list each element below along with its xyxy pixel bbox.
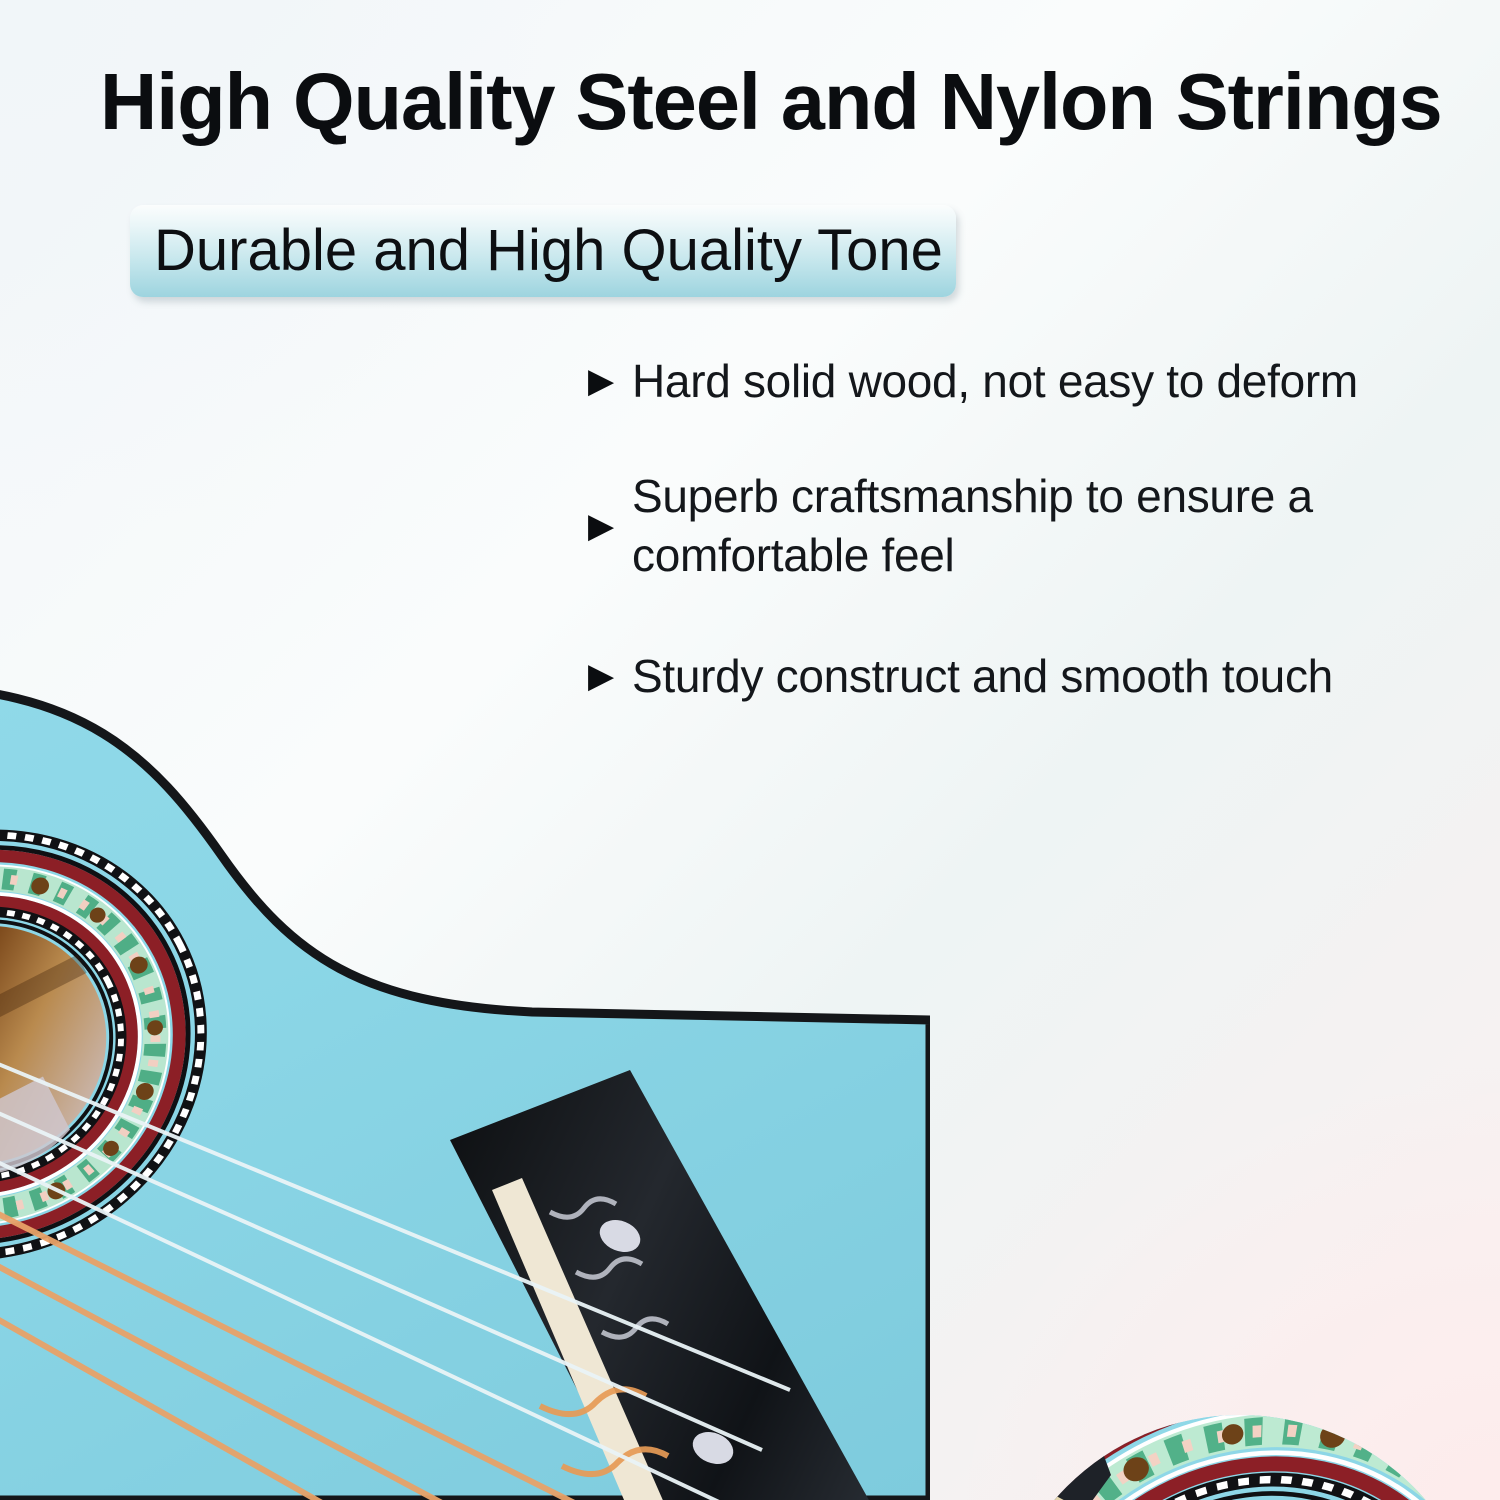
- list-item: ▶ Hard solid wood, not easy to deform: [588, 352, 1468, 411]
- triangle-bullet-icon: ▶: [588, 509, 632, 543]
- magnifier-inset: [995, 1415, 1485, 1500]
- subtitle-badge-label: Durable and High Quality Tone: [130, 222, 943, 280]
- list-item: ▶ Superb craftsmanship to ensure a comfo…: [588, 467, 1468, 585]
- triangle-bullet-icon: ▶: [588, 364, 632, 398]
- page-title: High Quality Steel and Nylon Strings: [100, 62, 1446, 142]
- subtitle-badge: Durable and High Quality Tone: [130, 205, 956, 297]
- product-photo: [0, 600, 1500, 1500]
- feature-text: Hard solid wood, not easy to deform: [632, 352, 1358, 411]
- feature-text: Superb craftsmanship to ensure a comfort…: [632, 467, 1432, 585]
- guitar-body-image: [0, 600, 930, 1500]
